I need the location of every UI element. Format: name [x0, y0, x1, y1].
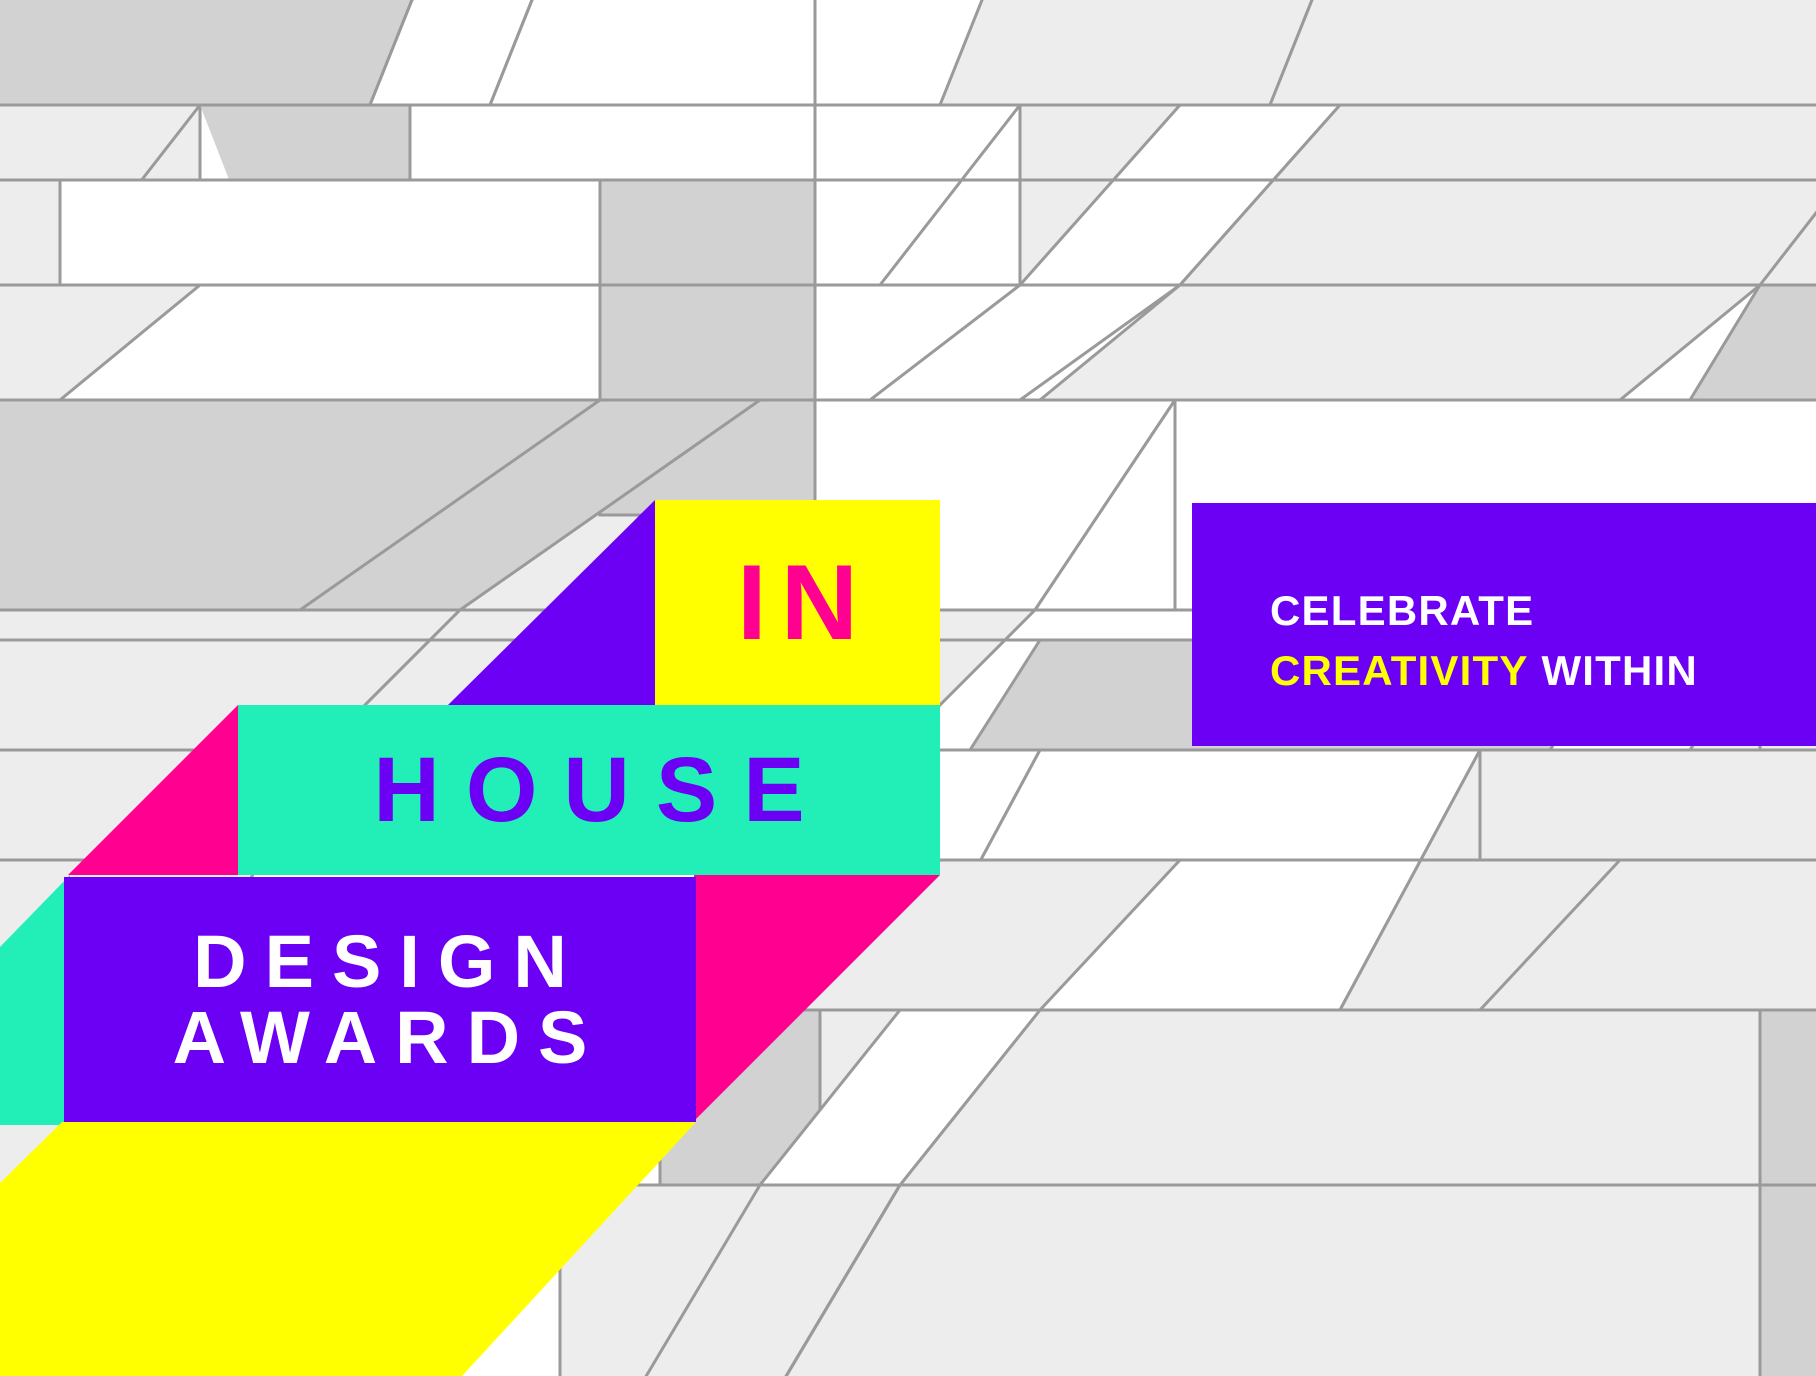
- tagline-panel: CELEBRATE CREATIVITY WITHIN: [1192, 503, 1816, 746]
- tagline-creativity-text: CREATIVITY: [1270, 647, 1529, 694]
- tagline-line-2: CREATIVITY WITHIN: [1270, 641, 1816, 701]
- tagline-line-1: CELEBRATE: [1270, 581, 1816, 641]
- tagline-celebrate-text: CELEBRATE: [1270, 587, 1534, 634]
- tagline-within-text: WITHIN: [1541, 647, 1698, 694]
- poster-canvas: IN HOUSE DESIGN AWARDS CELEBRATE: [0, 0, 1816, 1376]
